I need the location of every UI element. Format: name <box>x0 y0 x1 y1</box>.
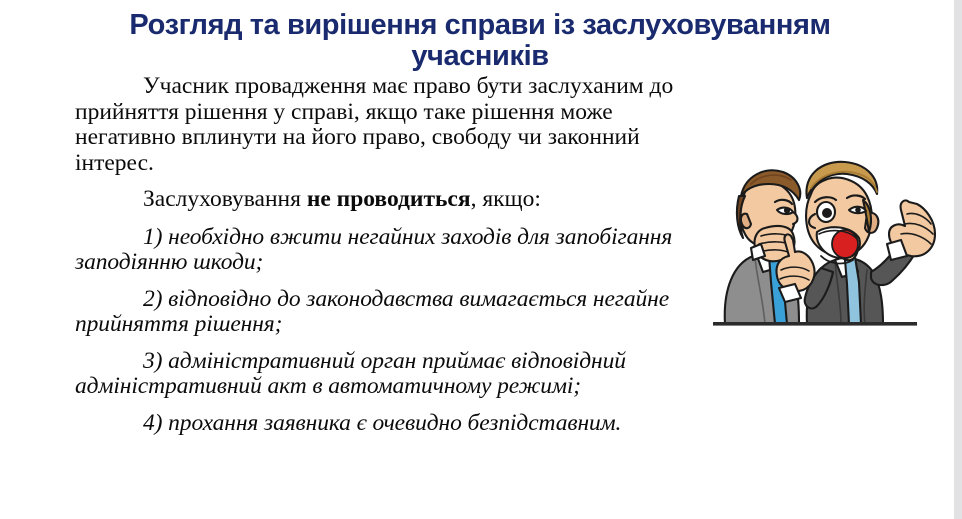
intro-paragraph: Учасник провадження має право бути заслу… <box>75 74 690 176</box>
slide-title: Розгляд та вирішення справи із заслухову… <box>40 10 920 72</box>
slide-canvas: Розгляд та вирішення справи із заслухову… <box>0 0 962 519</box>
lead-in-bold-phrase: не проводиться <box>307 186 471 212</box>
list-item-4: 4) прохання заявника є очевидно безпідст… <box>75 411 690 437</box>
list-item-1: 1) необхідно вжити негайних заходів для … <box>75 225 690 276</box>
lead-in-before-bold: Заслуховування <box>143 186 307 212</box>
page-right-edge <box>954 0 962 519</box>
lead-in-after-bold: , якщо: <box>471 186 541 212</box>
list-item-3: 3) адміністративний орган приймає відпов… <box>75 349 690 400</box>
list-item-2: 2) відповідно до законодавства вимагаєть… <box>75 287 690 338</box>
ground-line <box>713 322 917 326</box>
two-businessmen-talking-illustration <box>695 140 945 335</box>
slide-body: Учасник провадження має право бути заслу… <box>75 74 690 436</box>
lead-in-paragraph: Заслуховування не проводиться, якщо: <box>75 187 690 213</box>
